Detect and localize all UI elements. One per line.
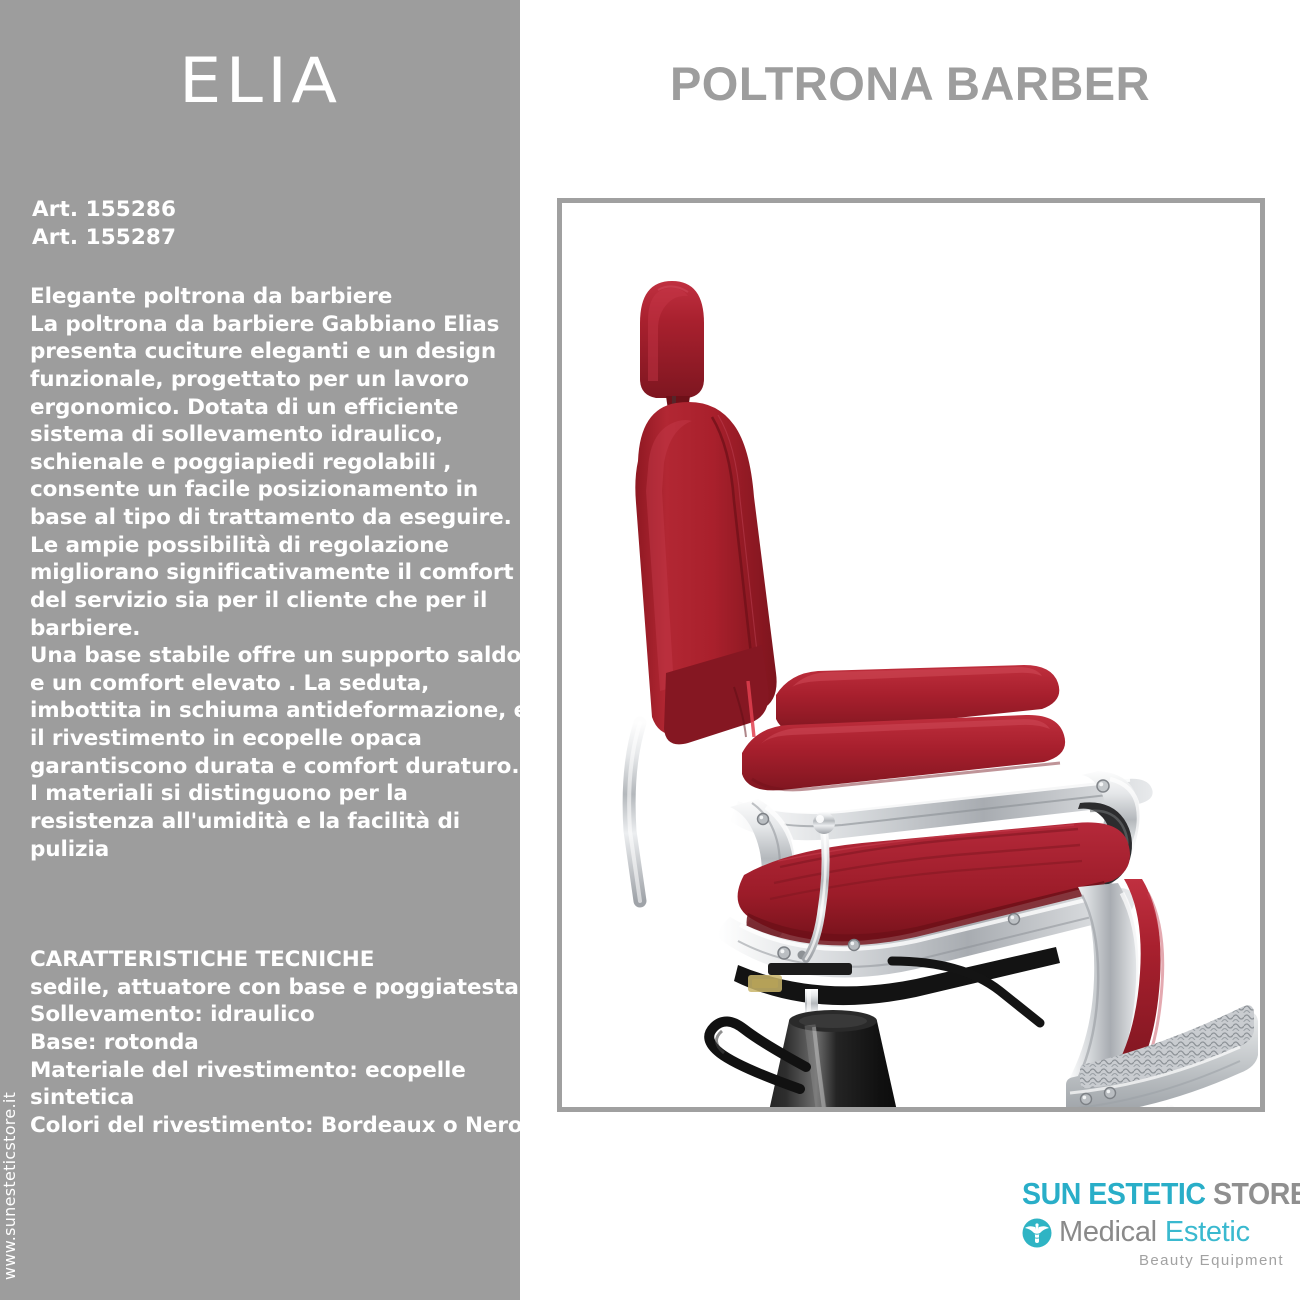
- estetic-word: Estetic: [1165, 1218, 1250, 1247]
- product-description: Elegante poltrona da barbiere La poltron…: [30, 283, 530, 863]
- product-photo-container: [562, 203, 1260, 1107]
- medical-estetic-logo: Medical Estetic: [1022, 1218, 1284, 1248]
- store-name-secondary: STORE: [1213, 1176, 1300, 1211]
- store-name-line: SUN ESTETIC STORE: [1022, 1178, 1263, 1211]
- website-url-vertical: www.sunesteticstore.it: [0, 0, 20, 1300]
- logo-tagline: Beauty Equipment: [1022, 1252, 1284, 1269]
- article-number-1: Art. 155286: [32, 196, 502, 224]
- tech-specs-heading: CARATTERISTICHE TECNICHE: [30, 946, 535, 974]
- medical-caduceus-icon: [1022, 1218, 1052, 1248]
- barber-chair-image: [562, 203, 1260, 1107]
- brand-logo: ELIA: [0, 50, 520, 112]
- product-photo-frame: [557, 198, 1265, 1112]
- store-logo: SUN ESTETIC STORE Medical Estetic Beauty…: [1022, 1178, 1284, 1269]
- brand-logo-text: ELIA: [179, 50, 341, 112]
- article-number-2: Art. 155287: [32, 224, 502, 252]
- product-description-text: Elegante poltrona da barbiere La poltron…: [30, 283, 530, 863]
- website-url-text: www.sunesteticstore.it: [0, 1092, 19, 1280]
- tech-specs-list: sedile, attuatore con base e poggiatesta…: [30, 974, 535, 1140]
- page-title: POLTRONA BARBER: [560, 56, 1260, 111]
- article-numbers: Art. 155286 Art. 155287: [32, 196, 502, 253]
- medical-word: Medical: [1059, 1218, 1157, 1247]
- chair-headrest: [640, 281, 704, 398]
- sidebar-panel: www.sunesteticstore.it ELIA Art. 155286 …: [0, 0, 520, 1300]
- technical-specifications: CARATTERISTICHE TECNICHE sedile, attuato…: [30, 946, 535, 1139]
- store-name-primary: SUN ESTETIC: [1022, 1176, 1206, 1211]
